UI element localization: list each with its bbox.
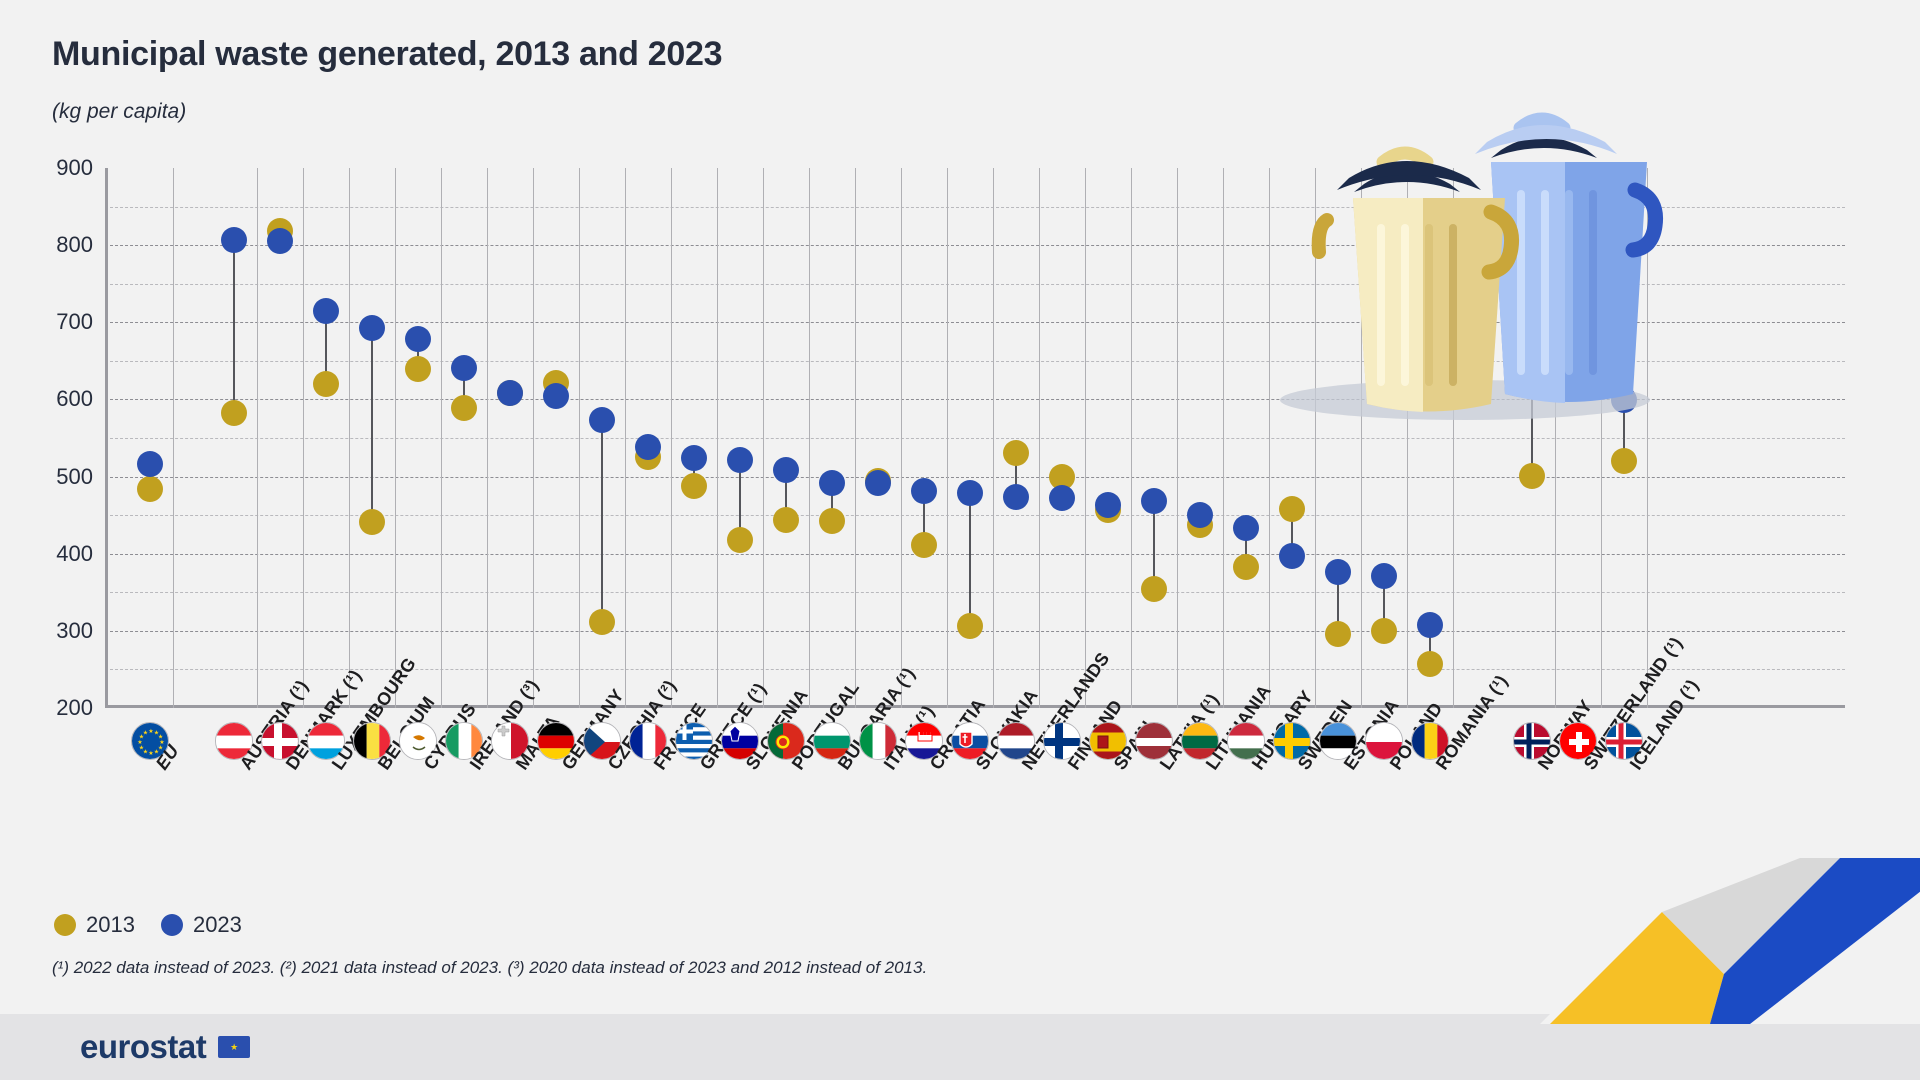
category-separator (993, 168, 994, 708)
data-point-2023-cz[interactable] (589, 407, 615, 433)
category-is[interactable]: ICELAND (¹) (1605, 722, 1643, 760)
category-separator (901, 168, 902, 708)
category-separator (855, 168, 856, 708)
category-ro[interactable]: ROMANIA (¹) (1411, 722, 1449, 760)
category-separator (441, 168, 442, 708)
category-separator (763, 168, 764, 708)
data-point-2013-pt[interactable] (773, 507, 799, 533)
data-point-2023-el[interactable] (681, 445, 707, 471)
category-separator (1223, 168, 1224, 708)
data-point-2013-ee[interactable] (1325, 621, 1351, 647)
category-ch[interactable]: SWITZERLAND (¹) (1559, 722, 1597, 760)
data-point-2013-lu[interactable] (313, 371, 339, 397)
category-separator (1453, 168, 1454, 708)
category-pl[interactable]: POLAND (1365, 722, 1403, 760)
category-hr[interactable]: CROATIA (905, 722, 943, 760)
data-point-2023-pt[interactable] (773, 457, 799, 483)
category-ie[interactable]: IRELAND (³) (445, 722, 483, 760)
eurostat-wordmark: eurostat (80, 1028, 206, 1066)
category-separator (1361, 168, 1362, 708)
svg-text:★: ★ (143, 729, 148, 736)
data-point-2013-nl[interactable] (1003, 440, 1029, 466)
category-separator (1601, 168, 1602, 708)
gridline-major (105, 245, 1845, 246)
category-no[interactable]: NORWAY (1513, 722, 1551, 760)
connector-line (233, 240, 235, 413)
data-point-2023-is[interactable] (1611, 387, 1637, 413)
data-point-2013-si[interactable] (727, 527, 753, 553)
data-point-2023-at[interactable] (221, 227, 247, 253)
category-eu[interactable]: ★★★★★★★★★★★★EU (131, 722, 169, 760)
data-point-2023-eu[interactable] (137, 451, 163, 477)
category-fi[interactable]: FINLAND (1043, 722, 1081, 760)
data-point-2023-be[interactable] (359, 315, 385, 341)
data-point-2013-se[interactable] (1279, 496, 1305, 522)
category-separator (1647, 168, 1648, 708)
data-point-2023-lu[interactable] (313, 298, 339, 324)
y-axis-tick-label: 400 (56, 541, 93, 567)
category-dk[interactable]: DENMARK (¹) (261, 722, 299, 760)
category-nl[interactable]: NETHERLANDS (997, 722, 1035, 760)
category-separator (809, 168, 810, 708)
category-at[interactable]: AUSTRIA (¹) (215, 722, 253, 760)
data-point-2023-es[interactable] (1095, 492, 1121, 518)
data-point-2013-cz[interactable] (589, 609, 615, 635)
category-sk[interactable]: SLOVAKIA (951, 722, 989, 760)
data-point-2023-fr[interactable] (635, 434, 661, 460)
category-separator (173, 168, 174, 708)
y-axis-tick-label: 500 (56, 464, 93, 490)
data-point-2013-hr[interactable] (911, 532, 937, 558)
data-point-2023-dk[interactable] (267, 228, 293, 254)
category-lu[interactable]: LUXEMBOURG (307, 722, 345, 760)
data-point-2023-ee[interactable] (1325, 559, 1351, 585)
connector-line (1531, 300, 1533, 476)
category-separator (303, 168, 304, 708)
legend-swatch-2023-icon (161, 914, 183, 936)
data-point-2023-cy[interactable] (405, 326, 431, 352)
gridline-major (105, 554, 1845, 555)
eu-flag-icon (218, 1036, 250, 1058)
data-point-2013-at[interactable] (221, 400, 247, 426)
category-separator (395, 168, 396, 708)
page-subtitle: (kg per capita) (52, 100, 186, 124)
y-axis-tick-label: 900 (56, 155, 93, 181)
data-point-2013-be[interactable] (359, 509, 385, 535)
category-separator (579, 168, 580, 708)
y-axis-tick-label: 600 (56, 386, 93, 412)
svg-text:★: ★ (148, 750, 153, 757)
footnote: (¹) 2022 data instead of 2023. (²) 2021 … (52, 958, 927, 978)
data-point-2023-nl[interactable] (1003, 484, 1029, 510)
data-point-2013-hu[interactable] (1233, 554, 1259, 580)
data-point-2023-lv[interactable] (1141, 488, 1167, 514)
category-pt[interactable]: PORTUGAL (767, 722, 805, 760)
data-point-2013-ro[interactable] (1417, 651, 1443, 677)
category-hu[interactable]: HUNGARY (1227, 722, 1265, 760)
y-axis-tick-label: 700 (56, 309, 93, 335)
category-separator (1177, 168, 1178, 708)
data-point-2023-pl[interactable] (1371, 563, 1397, 589)
data-point-2013-cy[interactable] (405, 356, 431, 382)
category-be[interactable]: BELGIUM (353, 722, 391, 760)
gridline-minor (105, 207, 1845, 208)
gridline-minor (105, 284, 1845, 285)
data-point-2023-de[interactable] (543, 383, 569, 409)
category-separator (1407, 168, 1408, 708)
category-de[interactable]: GERMANY (537, 722, 575, 760)
chart-page: Municipal waste generated, 2013 and 2023… (0, 0, 1920, 1080)
data-point-2013-el[interactable] (681, 473, 707, 499)
data-point-2023-lt[interactable] (1187, 502, 1213, 528)
data-point-2023-mt[interactable] (497, 380, 523, 406)
gridline-minor (105, 361, 1845, 362)
category-si[interactable]: SLOVENIA (721, 722, 759, 760)
connector-line (601, 420, 603, 622)
category-bg[interactable]: BULGARIA (¹) (813, 722, 851, 760)
gridline-major (105, 399, 1845, 400)
data-point-2013-ie[interactable] (451, 395, 477, 421)
legend-item-2013[interactable]: 2013 (54, 912, 135, 938)
y-axis-line (105, 168, 108, 708)
category-lv[interactable]: LATVIA (¹) (1135, 722, 1173, 760)
legend: 2013 2023 (54, 912, 242, 938)
connector-line (969, 493, 971, 626)
category-fr[interactable]: FRANCE (629, 722, 667, 760)
category-lt[interactable]: LITHUANIA (1181, 722, 1219, 760)
category-separator (625, 168, 626, 708)
data-point-2023-bg[interactable] (819, 470, 845, 496)
category-separator (1555, 168, 1556, 708)
data-point-2023-fi[interactable] (1049, 485, 1075, 511)
category-separator (257, 168, 258, 708)
category-cz[interactable]: CZECHIA (²) (583, 722, 621, 760)
category-separator (717, 168, 718, 708)
category-separator (349, 168, 350, 708)
category-ee[interactable]: ESTONIA (1319, 722, 1357, 760)
data-point-2023-hu[interactable] (1233, 515, 1259, 541)
data-point-2013-pl[interactable] (1371, 618, 1397, 644)
data-point-2023-ro[interactable] (1417, 612, 1443, 638)
gridline-major (105, 477, 1845, 478)
data-point-2013-eu[interactable] (137, 476, 163, 502)
gridline-minor (105, 438, 1845, 439)
legend-label-2013: 2013 (86, 912, 135, 938)
gridline-minor (105, 592, 1845, 593)
y-axis-tick-label: 800 (56, 232, 93, 258)
data-point-2013-is[interactable] (1611, 448, 1637, 474)
category-separator (1315, 168, 1316, 708)
category-separator (487, 168, 488, 708)
plot-area: 900800700600500400300200 (105, 168, 1845, 708)
gridline-minor (105, 669, 1845, 670)
category-cy[interactable]: CYPRUS (399, 722, 437, 760)
page-title: Municipal waste generated, 2013 and 2023 (52, 35, 722, 74)
data-point-2023-ie[interactable] (451, 355, 477, 381)
connector-line (371, 328, 373, 522)
data-point-2013-lv[interactable] (1141, 576, 1167, 602)
data-point-2023-sk[interactable] (957, 480, 983, 506)
category-el[interactable]: GREECE (¹) (675, 722, 713, 760)
category-separator (1269, 168, 1270, 708)
data-point-2023-it[interactable] (865, 470, 891, 496)
legend-label-2023: 2023 (193, 912, 242, 938)
category-separator (1039, 168, 1040, 708)
category-se[interactable]: SWEDEN (1273, 722, 1311, 760)
category-separator (1131, 168, 1132, 708)
eurostat-logo: eurostat (80, 1028, 250, 1066)
category-es[interactable]: SPAIN (1089, 722, 1127, 760)
data-point-2023-ch[interactable] (1565, 324, 1591, 350)
data-point-2013-ch[interactable] (1565, 301, 1591, 327)
data-point-2023-no[interactable] (1519, 287, 1545, 313)
data-point-2013-sk[interactable] (957, 613, 983, 639)
category-separator (671, 168, 672, 708)
category-separator (1085, 168, 1086, 708)
data-point-2023-hr[interactable] (911, 478, 937, 504)
y-axis-tick-label: 300 (56, 618, 93, 644)
category-mt[interactable]: MALTA (491, 722, 529, 760)
category-separator (947, 168, 948, 708)
data-point-2013-bg[interactable] (819, 508, 845, 534)
data-point-2023-si[interactable] (727, 447, 753, 473)
category-it[interactable]: ITALY (¹) (859, 722, 897, 760)
data-point-2023-se[interactable] (1279, 543, 1305, 569)
data-point-2013-no[interactable] (1519, 463, 1545, 489)
legend-item-2023[interactable]: 2023 (161, 912, 242, 938)
category-axis: ★★★★★★★★★★★★EUAUSTRIA (¹)DENMARK (¹)LUXE… (105, 722, 1845, 962)
y-axis-tick-label: 200 (56, 695, 93, 721)
category-separator (533, 168, 534, 708)
legend-swatch-2013-icon (54, 914, 76, 936)
footer-bar (0, 1014, 1920, 1080)
